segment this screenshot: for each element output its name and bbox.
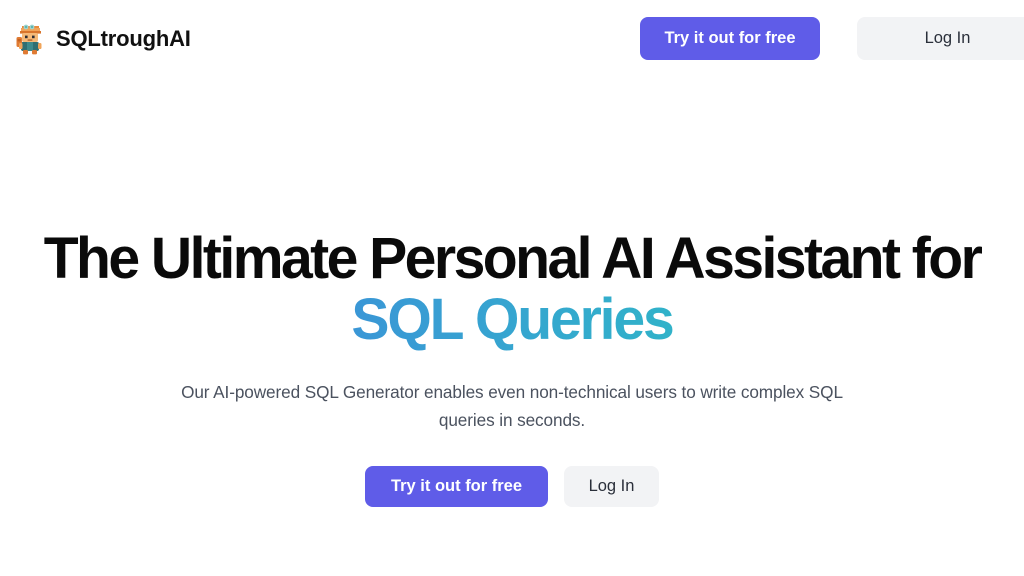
- hero-headline-accent: SQL Queries: [8, 289, 1017, 350]
- hero-actions: Try it out for free Log In: [365, 466, 659, 507]
- hero-subtitle: Our AI-powered SQL Generator enables eve…: [117, 378, 907, 435]
- hero-section: The Ultimate Personal AI Assistant for S…: [0, 0, 1024, 576]
- hero-subtitle-line-1: Our AI-powered SQL Generator enables eve…: [117, 378, 907, 407]
- hero-log-in-button[interactable]: Log In: [564, 466, 659, 507]
- hero-subtitle-line-2: queries in seconds.: [117, 406, 907, 435]
- hero-headline: The Ultimate Personal AI Assistant for S…: [8, 228, 1017, 351]
- hero-try-it-free-button[interactable]: Try it out for free: [365, 466, 548, 507]
- landing-page: SQLtroughAI Try it out for free Log In T…: [0, 0, 1024, 576]
- hero-headline-line-1: The Ultimate Personal AI Assistant for: [8, 228, 1017, 289]
